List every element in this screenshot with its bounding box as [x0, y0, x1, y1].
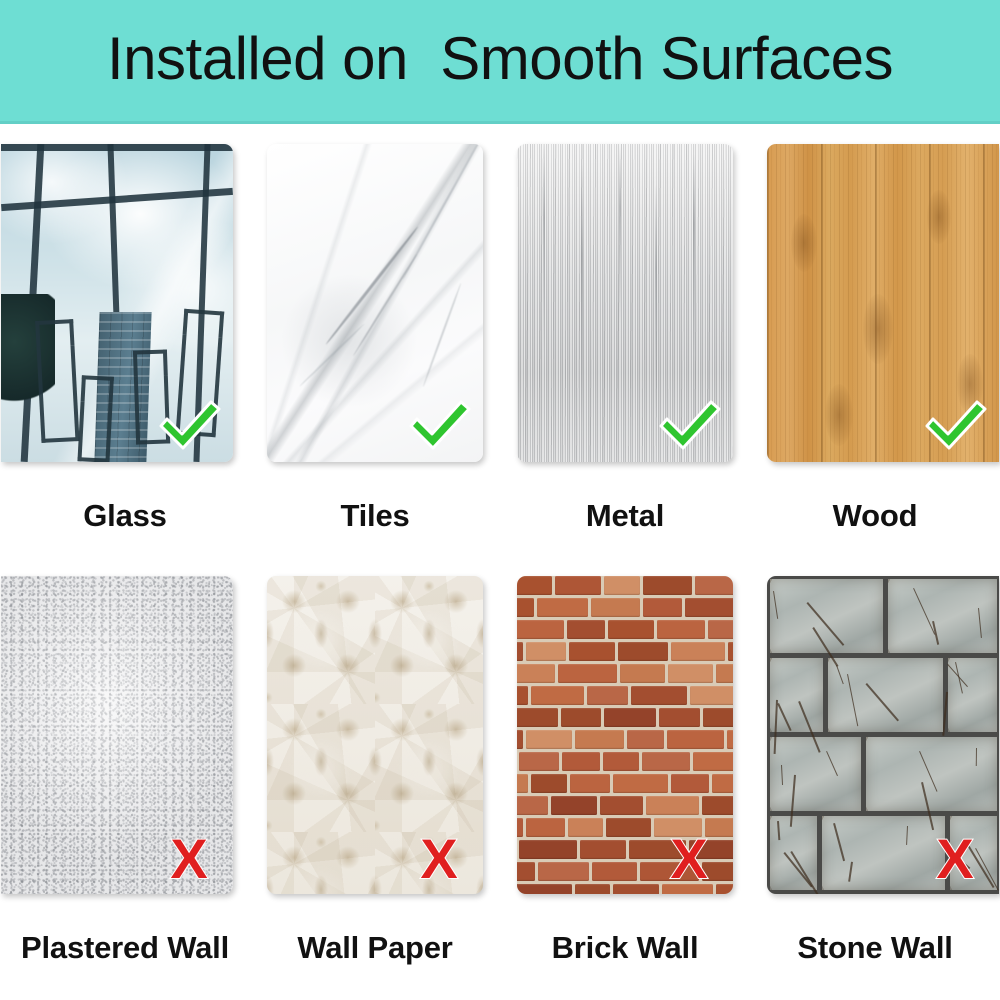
- brick: [587, 686, 628, 705]
- brick: [643, 598, 682, 617]
- stone-block: [866, 737, 997, 811]
- brick: [517, 642, 523, 661]
- brick: [517, 686, 528, 705]
- brick: [613, 884, 659, 894]
- stone-block: [948, 658, 997, 732]
- brick-course: [517, 796, 733, 815]
- brick: [568, 818, 603, 837]
- brick: [689, 840, 733, 859]
- brick: [575, 884, 610, 894]
- metal-streak: [619, 144, 621, 324]
- surface-label-tiles: Tiles: [340, 498, 409, 534]
- stone-crack: [777, 821, 781, 840]
- surface-cell-wall-paper[interactable]: X Wall Paper: [250, 576, 500, 966]
- brick: [708, 620, 733, 639]
- brick: [570, 774, 610, 793]
- stone-crack: [836, 665, 844, 685]
- surface-label-metal: Metal: [586, 498, 664, 534]
- surface-grid: Glass Tiles: [0, 124, 1000, 1000]
- brick: [517, 862, 535, 881]
- surface-cell-wood[interactable]: Wood: [750, 144, 1000, 534]
- surface-label-brick-wall: Brick Wall: [552, 930, 699, 966]
- brick-course: [517, 598, 733, 617]
- surface-label-stone-wall: Stone Wall: [797, 930, 952, 966]
- brick: [604, 708, 656, 727]
- stone-block: [822, 816, 945, 890]
- brick-course: [517, 752, 733, 771]
- surface-label-glass: Glass: [83, 498, 166, 534]
- stone-crack: [913, 588, 935, 634]
- stone-block: [770, 658, 823, 732]
- stone-crack: [826, 751, 838, 777]
- surface-swatch-plastered-wall: X: [1, 576, 233, 894]
- brick: [526, 818, 565, 837]
- brick: [603, 752, 639, 771]
- brick: [600, 796, 643, 815]
- brick: [562, 752, 600, 771]
- brick: [629, 840, 686, 859]
- brick: [631, 686, 687, 705]
- brick-course: [517, 818, 733, 837]
- brick: [613, 774, 668, 793]
- brick-course: [517, 730, 733, 749]
- surface-swatch-wall-paper: X: [267, 576, 483, 894]
- brick: [727, 730, 733, 749]
- surface-swatch-stone-wall: X: [767, 576, 999, 894]
- brick: [591, 598, 640, 617]
- surface-label-plastered-wall: Plastered Wall: [21, 930, 229, 966]
- stone-crack: [907, 826, 909, 845]
- wood-grain-knot: [927, 190, 951, 244]
- glass-reflection-chair: [77, 401, 112, 462]
- brick-course: [517, 576, 733, 595]
- brick: [517, 730, 523, 749]
- brick: [712, 774, 733, 793]
- metal-streak: [693, 154, 695, 354]
- brick: [517, 664, 555, 683]
- brick-course: [517, 774, 733, 793]
- brick: [580, 840, 626, 859]
- stone-crack: [964, 840, 994, 888]
- brick: [517, 620, 564, 639]
- stone-crack: [848, 862, 853, 882]
- brick: [526, 730, 572, 749]
- brick: [716, 884, 733, 894]
- brick: [517, 818, 523, 837]
- brick: [555, 576, 601, 595]
- brick: [517, 774, 528, 793]
- stone-crack: [781, 765, 783, 785]
- marble-vein: [325, 225, 420, 345]
- brick-course: [517, 862, 733, 881]
- brick: [693, 752, 733, 771]
- brick-course: [517, 884, 733, 894]
- wood-grain-knot: [791, 214, 817, 272]
- header-banner: Installed on Smooth Surfaces: [0, 0, 1000, 124]
- stone-block: [888, 579, 997, 653]
- marble-vein: [402, 144, 483, 280]
- metal-streak: [543, 144, 545, 354]
- brick-course: [517, 708, 733, 727]
- brick: [702, 862, 733, 881]
- brick: [671, 774, 709, 793]
- brick: [517, 796, 548, 815]
- brick-course: [517, 620, 733, 639]
- stone-crack: [865, 683, 898, 721]
- glass-reflection-chair: [37, 345, 80, 443]
- brick: [716, 664, 733, 683]
- brick-course: [517, 642, 733, 661]
- brick: [608, 620, 654, 639]
- brick: [519, 752, 559, 771]
- brick: [671, 642, 725, 661]
- wood-grain-knot: [825, 384, 853, 446]
- brick: [659, 708, 700, 727]
- stone-crack: [790, 851, 819, 894]
- brick: [531, 774, 567, 793]
- glass-reflection-chair: [134, 375, 170, 444]
- surface-swatch-brick-wall: X: [517, 576, 733, 894]
- surface-swatch-wood: [767, 144, 999, 462]
- stone-crack: [778, 703, 792, 731]
- brick-course: [517, 686, 733, 705]
- surface-cell-tiles[interactable]: Tiles: [250, 144, 500, 534]
- brick: [537, 598, 588, 617]
- stone-crack: [949, 850, 971, 870]
- stone-block: [770, 737, 861, 811]
- brick: [668, 664, 713, 683]
- brick: [695, 576, 733, 595]
- brick: [517, 576, 552, 595]
- brick: [643, 576, 692, 595]
- stone-block: [950, 816, 997, 890]
- stone-block: [770, 579, 883, 653]
- marble-vein: [422, 283, 462, 387]
- brick: [654, 818, 702, 837]
- surface-swatch-glass: [1, 144, 233, 462]
- wood-grain-knot: [863, 294, 893, 364]
- brick: [538, 862, 589, 881]
- stone-crack: [955, 662, 963, 693]
- stone-crack: [833, 823, 845, 861]
- brick: [575, 730, 624, 749]
- brick: [690, 686, 733, 705]
- surface-cell-glass[interactable]: Glass: [0, 144, 250, 534]
- stone-crack: [976, 748, 977, 766]
- stone-block: [828, 658, 943, 732]
- metal-streak: [581, 164, 583, 424]
- stone-crack: [806, 602, 844, 646]
- brick: [703, 708, 733, 727]
- brick: [558, 664, 617, 683]
- brick-course: [517, 840, 733, 859]
- surface-cell-brick-wall[interactable]: X Brick Wall: [500, 576, 750, 966]
- brick: [606, 818, 651, 837]
- brick: [526, 642, 566, 661]
- brick: [592, 862, 637, 881]
- stone-crack: [975, 848, 999, 890]
- brick: [657, 620, 705, 639]
- brick: [642, 752, 690, 771]
- brick: [517, 598, 534, 617]
- surface-label-wood: Wood: [833, 498, 918, 534]
- marble-vein: [299, 323, 365, 387]
- brick: [646, 796, 699, 815]
- surface-cell-metal[interactable]: Metal: [500, 144, 750, 534]
- brick: [551, 796, 597, 815]
- brick: [667, 730, 724, 749]
- brick: [604, 576, 640, 595]
- brick: [519, 840, 577, 859]
- brick: [517, 708, 558, 727]
- brick: [561, 708, 601, 727]
- glass-reflection-chair: [176, 335, 223, 438]
- row-suitable-surfaces: Glass Tiles: [0, 144, 1000, 534]
- surface-cell-stone-wall[interactable]: X Stone Wall: [750, 576, 1000, 966]
- brick: [685, 598, 733, 617]
- surface-label-wall-paper: Wall Paper: [297, 930, 452, 966]
- brick: [627, 730, 664, 749]
- damask-pattern-overlay: [267, 576, 483, 894]
- brick: [640, 862, 699, 881]
- green-check-icon: [405, 396, 473, 456]
- green-check-icon: [655, 396, 723, 456]
- brick: [618, 642, 668, 661]
- page-title: Installed on Smooth Surfaces: [107, 29, 893, 89]
- plaster-shading: [1, 576, 233, 894]
- metal-streak: [655, 184, 657, 424]
- brick: [531, 686, 584, 705]
- brick: [620, 664, 665, 683]
- brick: [728, 642, 733, 661]
- surface-swatch-tiles: [267, 144, 483, 462]
- stone-crack: [978, 608, 982, 638]
- stone-block: [770, 816, 817, 890]
- stone-crack: [773, 591, 779, 619]
- brick: [517, 884, 572, 894]
- stone-crack: [847, 674, 859, 726]
- brick: [567, 620, 605, 639]
- brick: [662, 884, 713, 894]
- row-unsuitable-surfaces: X Plastered Wall X Wall Paper: [0, 576, 1000, 966]
- wood-grain-knot: [957, 354, 983, 414]
- surface-cell-plastered-wall[interactable]: X Plastered Wall: [0, 576, 250, 966]
- surface-swatch-metal: [517, 144, 733, 462]
- glass-frame-bar: [1, 144, 233, 151]
- brick-course: [517, 664, 733, 683]
- brick: [702, 796, 733, 815]
- brick: [569, 642, 615, 661]
- brick: [705, 818, 733, 837]
